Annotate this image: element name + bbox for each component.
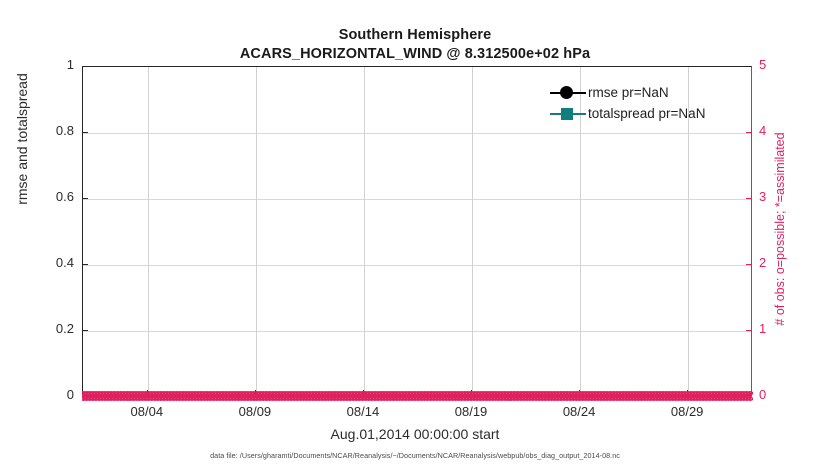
y-axis-left-tick-label: 0 (20, 387, 74, 402)
grid-line-horizontal (83, 133, 751, 134)
y-axis-right-tick-label: 5 (759, 57, 766, 72)
x-axis-tick-label: 08/19 (455, 404, 488, 419)
legend-item-totalspread[interactable]: totalspread pr=NaN (548, 103, 748, 124)
x-axis-tick (255, 390, 256, 396)
grid-line-horizontal (83, 331, 751, 332)
x-axis-tick (687, 390, 688, 396)
y-axis-left-tick (82, 264, 88, 265)
y-axis-right-tick (746, 330, 752, 331)
y-axis-right-tick-label: 0 (759, 387, 766, 402)
x-axis-tick-label: 08/09 (239, 404, 272, 419)
y-axis-left-title: rmse and totalspread (14, 9, 30, 269)
grid-line-vertical (148, 67, 149, 395)
legend-item-rmse[interactable]: rmse pr=NaN (548, 82, 748, 103)
y-axis-right-tick-label: 1 (759, 321, 766, 336)
chart-figure: Southern Hemisphere ACARS_HORIZONTAL_WIN… (0, 0, 830, 470)
x-axis-tick-label: 08/04 (131, 404, 164, 419)
y-axis-right-tick (746, 198, 752, 199)
y-axis-right-tick-label: 3 (759, 189, 766, 204)
y-axis-right-tick-label: 2 (759, 255, 766, 270)
y-axis-right-tick-label: 4 (759, 123, 766, 138)
legend-label-rmse: rmse pr=NaN (588, 82, 669, 103)
circle-marker-icon (548, 82, 588, 103)
square-marker-icon (548, 103, 588, 124)
legend-label-totalspread: totalspread pr=NaN (588, 103, 705, 124)
y-axis-left-tick (82, 330, 88, 331)
grid-line-vertical (472, 67, 473, 395)
grid-line-horizontal (83, 199, 751, 200)
y-axis-left-tick-label: 0.2 (20, 321, 74, 336)
x-axis-tick (363, 390, 364, 396)
grid-line-vertical (364, 67, 365, 395)
chart-title: Southern Hemisphere (0, 26, 830, 45)
y-axis-left-tick (82, 198, 88, 199)
y-axis-right-tick (746, 264, 752, 265)
chart-legend: rmse pr=NaN totalspread pr=NaN (548, 82, 748, 124)
x-axis-tick-label: 08/29 (671, 404, 704, 419)
grid-line-vertical (256, 67, 257, 395)
x-axis-tick (579, 390, 580, 396)
x-axis-tick-label: 08/24 (563, 404, 596, 419)
y-axis-left-tick (82, 132, 88, 133)
y-axis-right-tick (746, 132, 752, 133)
y-axis-right-title: # of obs: o=possible; *=assimilated (773, 79, 787, 379)
data-file-footer: data file: /Users/gharamti/Documents/NCA… (0, 451, 830, 460)
x-axis-tick (471, 390, 472, 396)
x-axis-title: Aug.01,2014 00:00:00 start (0, 426, 830, 442)
grid-line-horizontal (83, 265, 751, 266)
x-axis-tick (147, 390, 148, 396)
chart-subtitle: ACARS_HORIZONTAL_WIND @ 8.312500e+02 hPa (0, 45, 830, 64)
x-axis-tick-label: 08/14 (347, 404, 380, 419)
chart-title-block: Southern Hemisphere ACARS_HORIZONTAL_WIN… (0, 26, 830, 64)
